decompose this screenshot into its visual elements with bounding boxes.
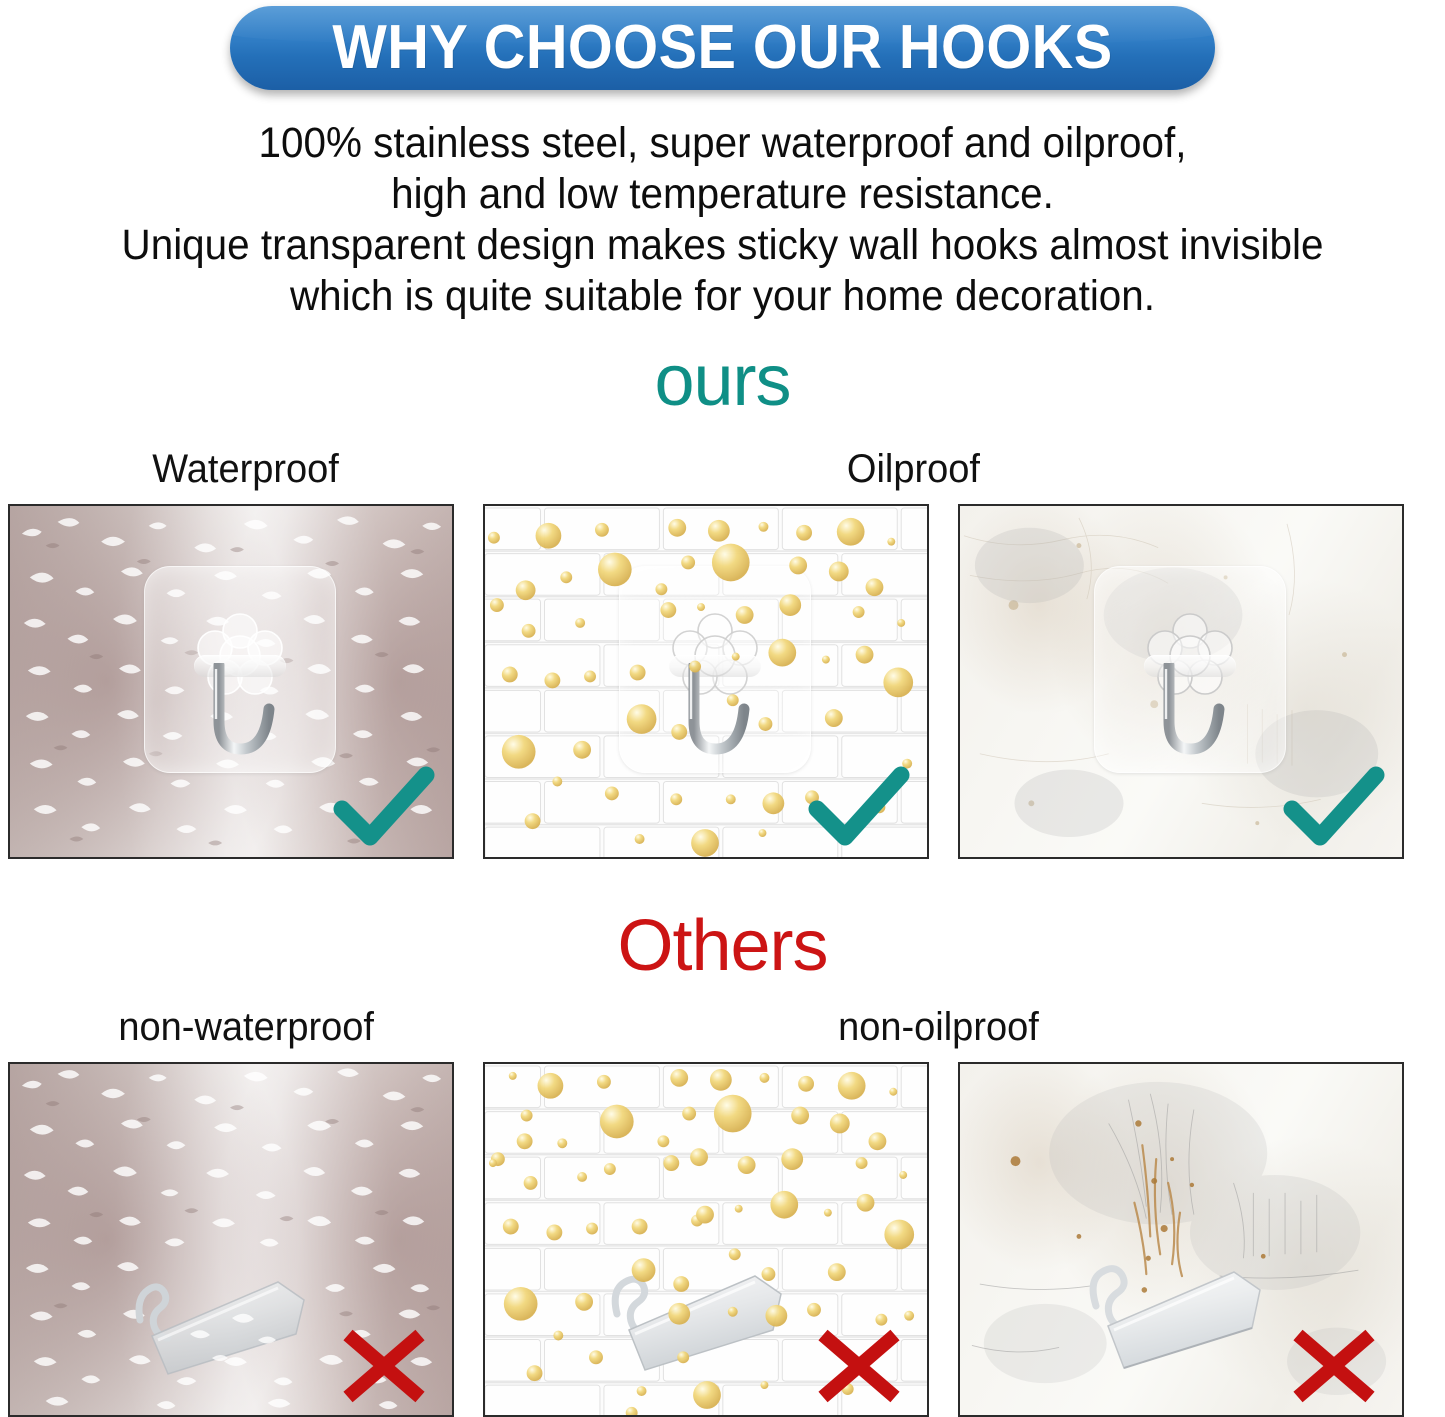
check-mark-icon	[330, 761, 438, 849]
ours-panel-row	[8, 504, 1404, 859]
label-non-oilproof: non-oilproof	[709, 1004, 1190, 1052]
product-description: 100% stainless steel, super waterproof a…	[0, 118, 1445, 322]
panel-easy-rust	[958, 1062, 1404, 1417]
label-easy-rust: easy rust	[1220, 1004, 1445, 1052]
page-title: WHY CHOOSE OUR HOOKS	[332, 17, 1112, 79]
cross-mark-icon	[1280, 1319, 1388, 1407]
cross-mark-icon	[330, 1319, 438, 1407]
header-banner-pill: WHY CHOOSE OUR HOOKS	[230, 6, 1215, 90]
fallen-hook-icon	[128, 1242, 358, 1392]
label-oilproof: Oilproof	[684, 446, 1165, 494]
panel-rustproof	[958, 504, 1404, 859]
others-panel-row	[8, 1062, 1404, 1417]
panel-oilproof	[483, 504, 929, 859]
description-line-2: high and low temperature resistance.	[43, 169, 1401, 220]
ours-column-labels: Waterproof Oilproof rustproof	[0, 446, 1445, 494]
header-banner: WHY CHOOSE OUR HOOKS	[0, 6, 1445, 98]
section-heading-ours: ours	[0, 345, 1445, 417]
fallen-hook-icon	[1078, 1242, 1308, 1392]
section-heading-others: Others	[0, 910, 1445, 982]
adhesive-sticker-pad	[144, 566, 336, 773]
check-mark-icon	[1280, 761, 1388, 849]
label-rustproof: rustproof	[1195, 446, 1445, 494]
panel-non-waterproof	[8, 1062, 454, 1417]
label-waterproof: Waterproof	[17, 446, 655, 494]
stainless-steel-hook-icon	[195, 663, 287, 768]
panel-non-oilproof	[483, 1062, 929, 1417]
label-non-waterproof: non-waterproof	[17, 1004, 679, 1052]
stainless-steel-hook-icon	[1145, 663, 1237, 768]
description-line-4: which is quite suitable for your home de…	[43, 271, 1401, 322]
check-mark-icon	[805, 761, 913, 849]
adhesive-sticker-pad	[1094, 566, 1286, 773]
description-line-3: Unique transparent design makes sticky w…	[43, 220, 1401, 271]
panel-waterproof	[8, 504, 454, 859]
cross-mark-icon	[805, 1319, 913, 1407]
others-column-labels: non-waterproof non-oilproof easy rust	[0, 1004, 1445, 1052]
description-line-1: 100% stainless steel, super waterproof a…	[43, 118, 1401, 169]
